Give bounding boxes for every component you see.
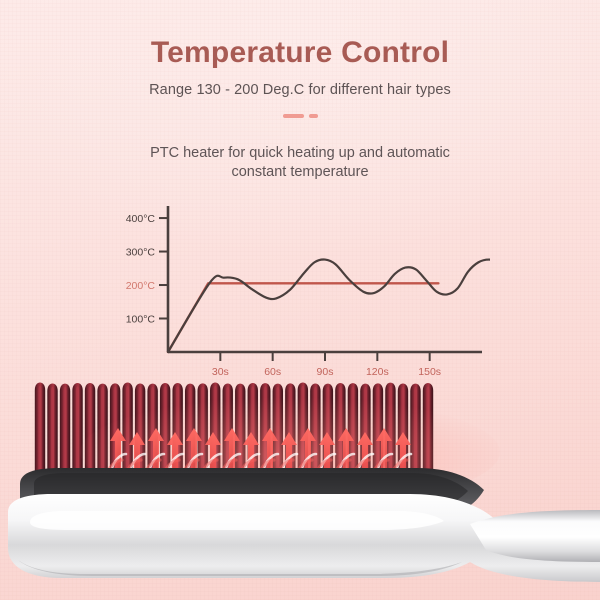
chart-line — [168, 283, 438, 352]
chart-line — [168, 259, 490, 352]
y-axis-tick-labels: 100°C200°C300°C400°C — [126, 213, 156, 325]
product-feature-page: Temperature Control Range 130 - 200 Deg.… — [0, 0, 600, 600]
y-tick-label: 200°C — [126, 280, 156, 292]
divider-dash-short — [309, 114, 318, 118]
divider — [0, 114, 600, 118]
y-tick-label: 300°C — [126, 247, 156, 259]
y-tick-label: 100°C — [126, 314, 156, 326]
y-axis-tick-marks — [159, 218, 168, 318]
lead-line-2: constant temperature — [0, 163, 600, 182]
divider-dash-long — [283, 114, 304, 118]
x-axis-tick-marks — [220, 352, 429, 361]
temperature-chart: 100°C200°C300°C400°C 30s60s90s120s150s — [110, 200, 490, 380]
lead-paragraph: PTC heater for quick heating up and auto… — [0, 144, 600, 182]
product-image — [0, 372, 600, 600]
brush-body-highlight — [30, 511, 444, 530]
page-subtitle: Range 130 - 200 Deg.C for different hair… — [0, 82, 600, 98]
page-title: Temperature Control — [0, 36, 600, 70]
y-tick-label: 400°C — [126, 213, 156, 225]
chart-series — [168, 259, 490, 352]
lead-line-1: PTC heater for quick heating up and auto… — [0, 144, 600, 163]
